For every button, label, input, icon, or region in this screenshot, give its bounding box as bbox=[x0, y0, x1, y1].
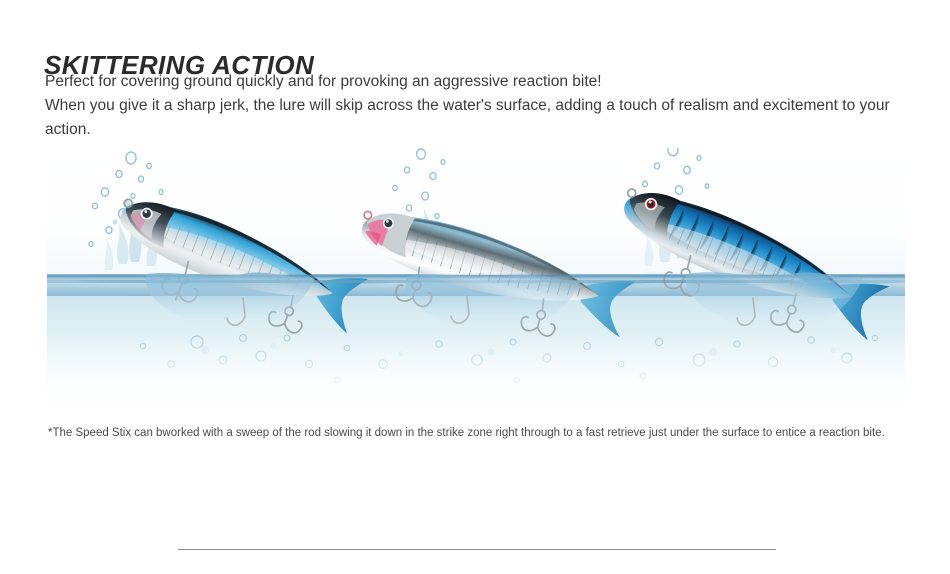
section-divider bbox=[178, 549, 776, 550]
description-paragraph-2: When you give it a sharp jerk, the lure … bbox=[45, 94, 925, 142]
page-root: SKITTERING ACTION Perfect for covering g… bbox=[0, 0, 950, 574]
water-depth-haze bbox=[47, 335, 905, 407]
footnote-text: *The Speed Stix can bworked with a sweep… bbox=[48, 424, 910, 442]
hero-image bbox=[47, 148, 905, 407]
water-surface-line-secondary bbox=[47, 280, 905, 283]
water-surface-line bbox=[47, 274, 905, 279]
description-paragraph-1: Perfect for covering ground quickly and … bbox=[45, 70, 925, 94]
section-description: Perfect for covering ground quickly and … bbox=[45, 70, 925, 142]
footnote: *The Speed Stix can bworked with a sweep… bbox=[48, 424, 910, 442]
